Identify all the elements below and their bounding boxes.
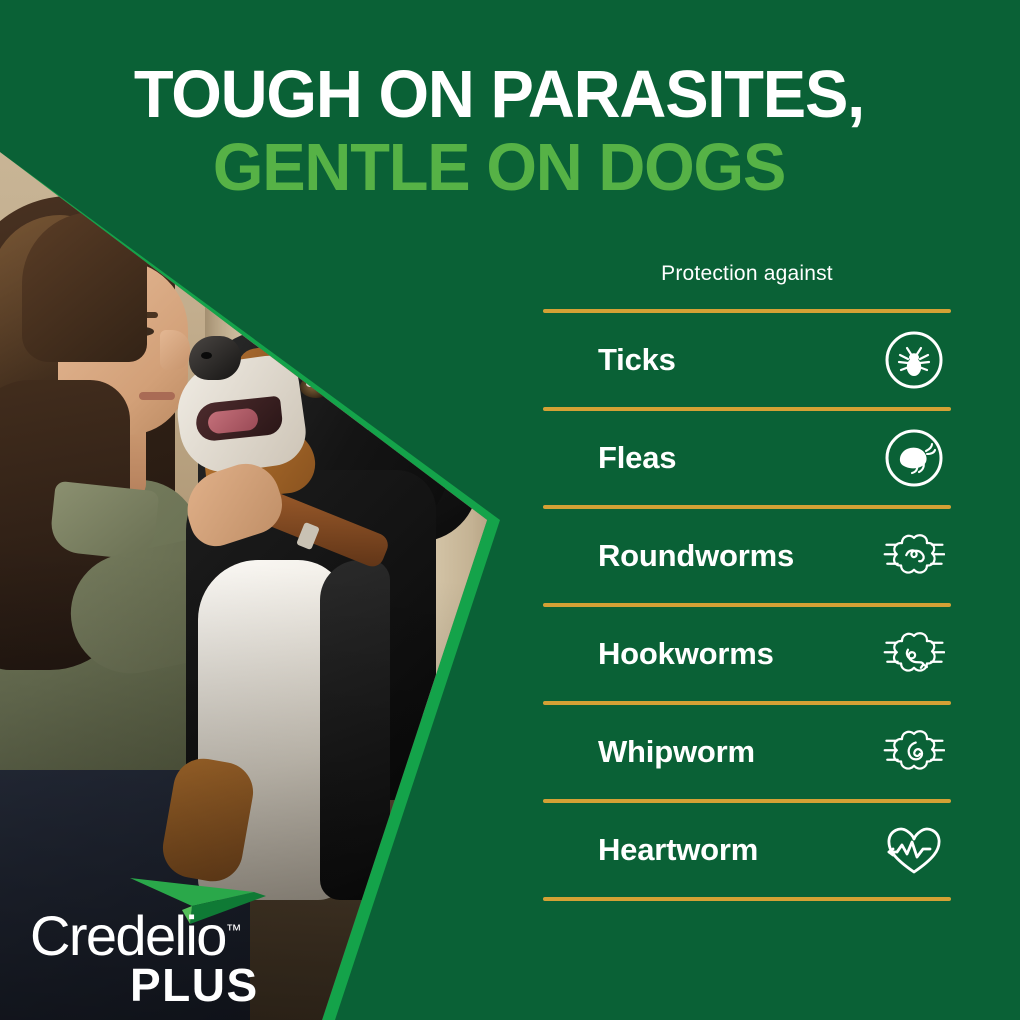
protection-panel: Protection against Ticks — [543, 262, 951, 901]
protection-row-hookworms: Hookworms — [543, 607, 951, 701]
row-divider — [543, 897, 951, 901]
protection-row-label: Heartworm — [598, 832, 758, 868]
protection-panel-title: Protection against — [543, 262, 951, 286]
whipworm-intestine-icon — [883, 721, 945, 783]
protection-row-label: Whipworm — [598, 734, 755, 770]
protection-row-whipworm: Whipworm — [543, 705, 951, 799]
hookworm-intestine-icon — [883, 623, 945, 685]
flea-icon — [883, 427, 945, 489]
protection-row-label: Ticks — [598, 342, 676, 378]
protection-row-fleas: Fleas — [543, 411, 951, 505]
protection-row-label: Roundworms — [598, 538, 794, 574]
headline: TOUGH ON PARASITES, GENTLE ON DOGS — [0, 62, 1020, 200]
logo-plus-text: PLUS — [130, 958, 259, 1012]
protection-row-label: Fleas — [598, 440, 676, 476]
roundworm-intestine-icon — [883, 525, 945, 587]
tick-icon — [883, 329, 945, 391]
logo-trademark: ™ — [226, 922, 242, 939]
headline-line-1: TOUGH ON PARASITES, — [15, 62, 983, 128]
protection-row-roundworms: Roundworms — [543, 509, 951, 603]
heartworm-heart-icon — [883, 819, 945, 881]
protection-row-heartworm: Heartworm — [543, 803, 951, 897]
brand-logo: Credelio™ PLUS — [30, 876, 260, 986]
protection-row-ticks: Ticks — [543, 313, 951, 407]
headline-line-2: GENTLE ON DOGS — [15, 135, 983, 201]
poster-canvas: TOUGH ON PARASITES, GENTLE ON DOGS Crede… — [0, 0, 1020, 1020]
protection-row-label: Hookworms — [598, 636, 774, 672]
